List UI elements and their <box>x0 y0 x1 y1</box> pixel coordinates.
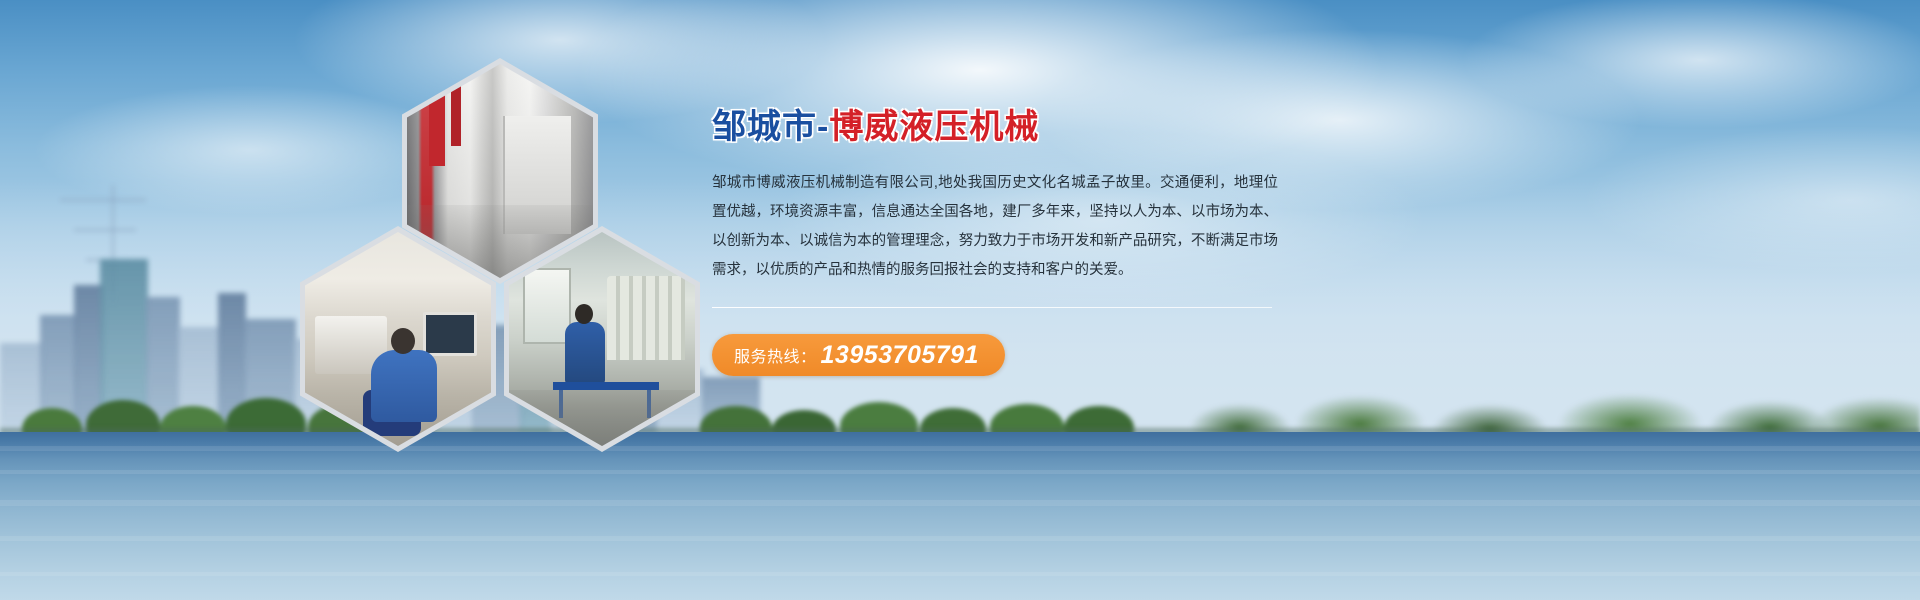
company-title-prefix: 邹城市- <box>712 108 829 146</box>
water-background <box>0 432 1920 600</box>
service-hotline-label: 服务热线： <box>734 343 817 367</box>
service-hotline-button[interactable]: 服务热线： 13953705791 <box>712 334 1005 376</box>
hexagon-photo-cluster <box>300 58 700 438</box>
company-description: 邹城市博威液压机械制造有限公司,地处我国历史文化名城孟子故里。交通便利，地理位置… <box>712 169 1278 285</box>
company-title: 邹城市-博威液压机械 <box>712 108 1282 147</box>
banner-text-panel: 邹城市-博威液压机械 邹城市博威液压机械制造有限公司,地处我国历史文化名城孟子故… <box>712 108 1282 376</box>
company-title-highlight: 博威液压机械 <box>829 108 1039 146</box>
service-hotline-number: 13953705791 <box>821 341 979 370</box>
company-hero-banner: 邹城市-博威液压机械 邹城市博威液压机械制造有限公司,地处我国历史文化名城孟子故… <box>0 0 1920 600</box>
section-divider <box>712 307 1272 308</box>
